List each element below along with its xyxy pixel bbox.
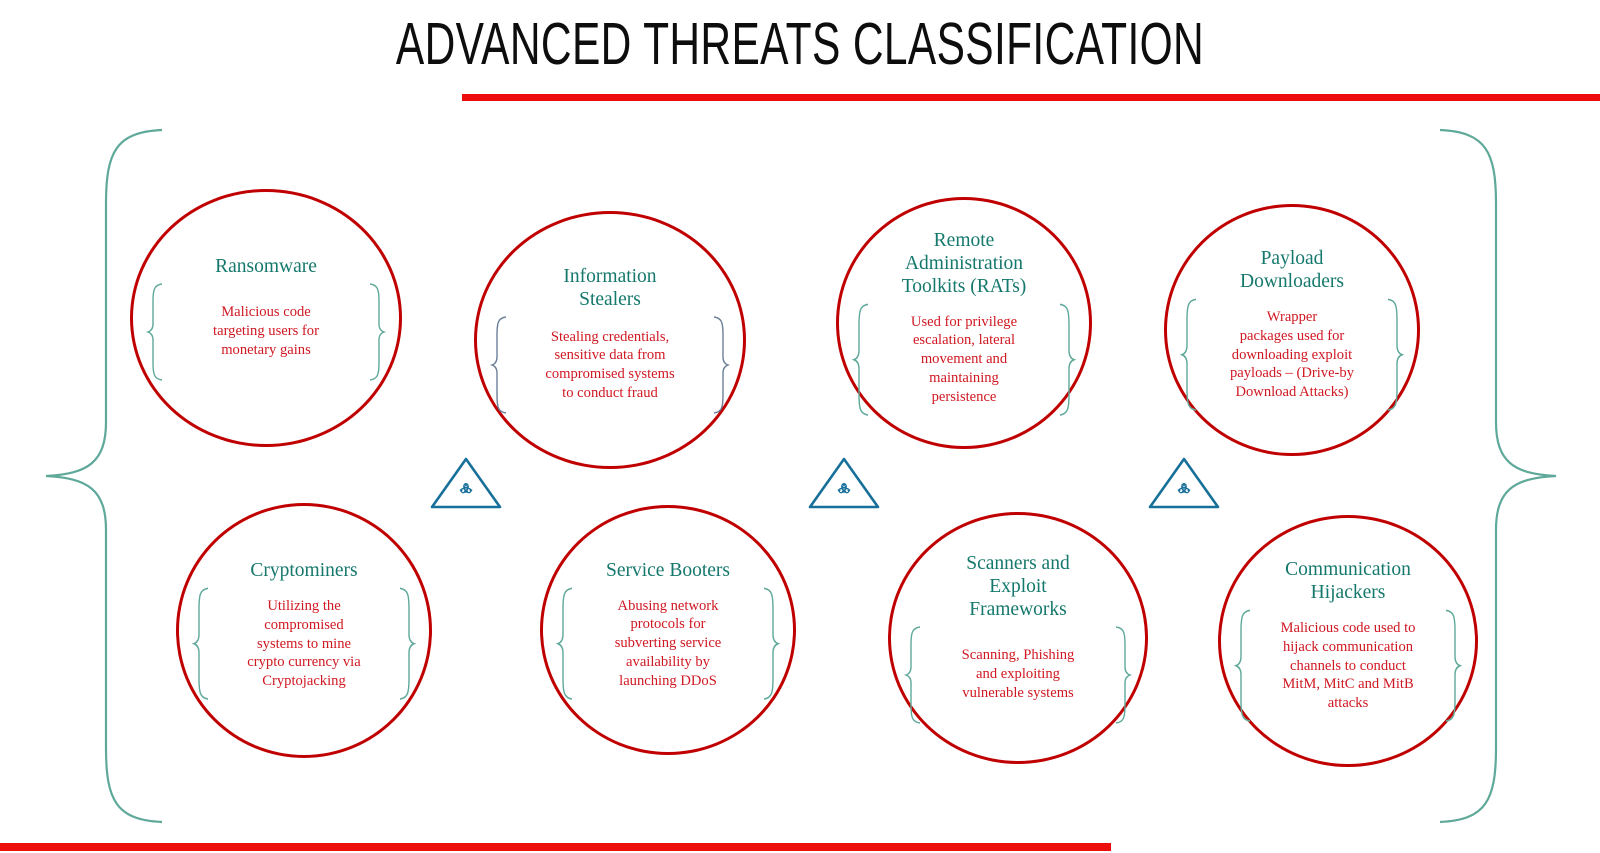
node-body-wrap: Abusing network protocols for subverting… <box>557 586 779 701</box>
biohazard-icon-1 <box>429 456 503 510</box>
mini-brace-left <box>853 302 870 417</box>
node-title: Payload Downloaders <box>1240 247 1344 293</box>
node-content: Scanners and Exploit Frameworks Scanning… <box>891 515 1145 761</box>
mini-brace-left <box>491 315 508 415</box>
threat-node-information-stealers[interactable]: Information Stealers Stealing credential… <box>474 211 746 469</box>
threat-node-payload-downloaders[interactable]: Payload Downloaders Wrapper packages use… <box>1164 204 1420 456</box>
node-body: Wrapper packages used for downloading ex… <box>1198 297 1386 412</box>
mini-brace-right <box>1444 608 1461 723</box>
node-title: Cryptominers <box>250 559 357 582</box>
node-body: Malicious code used to hijack communicat… <box>1252 608 1444 723</box>
mini-brace-right <box>712 315 729 415</box>
threat-node-ransomware[interactable]: Ransomware Malicious code targeting user… <box>130 189 402 447</box>
node-body: Scanning, Phishing and exploiting vulner… <box>922 635 1114 713</box>
mini-brace-right <box>762 586 779 701</box>
node-content: Payload Downloaders Wrapper packages use… <box>1167 207 1417 453</box>
mini-brace-left <box>1181 297 1198 412</box>
page-title: ADVANCED THREATS CLASSIFICATION <box>224 14 1376 76</box>
mini-brace-left <box>1235 608 1252 723</box>
node-content: Cryptominers Utilizing the compromised s… <box>179 506 429 755</box>
node-body-wrap: Utilizing the compromised systems to min… <box>193 586 415 701</box>
biohazard-icon-2 <box>807 456 881 510</box>
node-title: Communication Hijackers <box>1285 558 1411 604</box>
node-body-wrap: Wrapper packages used for downloading ex… <box>1181 297 1403 412</box>
bottom-accent-rule <box>0 843 1111 851</box>
mini-brace-right <box>398 586 415 701</box>
threat-node-service-booters[interactable]: Service Booters Abusing network protocol… <box>540 505 796 755</box>
node-body-wrap: Stealing credentials, sensitive data fro… <box>491 315 729 415</box>
slide-canvas: ADVANCED THREATS CLASSIFICATION Ransomwa… <box>0 0 1600 853</box>
mini-brace-right <box>1058 302 1075 417</box>
node-body: Stealing credentials, sensitive data fro… <box>508 317 712 414</box>
node-content: Service Booters Abusing network protocol… <box>543 508 793 752</box>
mini-brace-right <box>1386 297 1403 412</box>
node-body-wrap: Scanning, Phishing and exploiting vulner… <box>905 625 1131 725</box>
node-body-wrap: Used for privilege escalation, lateral m… <box>853 302 1075 417</box>
mini-brace-left <box>147 282 164 382</box>
mini-brace-right <box>368 282 385 382</box>
node-body: Malicious code targeting users for monet… <box>164 292 368 370</box>
node-content: Ransomware Malicious code targeting user… <box>133 192 399 444</box>
biohazard-icon-3 <box>1147 456 1221 510</box>
title-underline-rule <box>462 94 1600 101</box>
node-body: Used for privilege escalation, lateral m… <box>870 302 1058 417</box>
node-title: Service Booters <box>606 559 730 582</box>
mini-brace-left <box>193 586 210 701</box>
threat-node-cryptominers[interactable]: Cryptominers Utilizing the compromised s… <box>176 503 432 758</box>
threat-node-remote-administration-toolkits[interactable]: Remote Administration Toolkits (RATs) Us… <box>836 197 1092 449</box>
mini-brace-left <box>557 586 574 701</box>
threat-node-scanners-and-exploit-frameworks[interactable]: Scanners and Exploit Frameworks Scanning… <box>888 512 1148 764</box>
threat-node-communication-hijackers[interactable]: Communication Hijackers Malicious code u… <box>1218 515 1478 767</box>
mini-brace-left <box>905 625 922 725</box>
node-body: Utilizing the compromised systems to min… <box>210 586 398 701</box>
node-body: Abusing network protocols for subverting… <box>574 586 762 701</box>
node-title: Remote Administration Toolkits (RATs) <box>902 229 1027 298</box>
mini-brace-right <box>1114 625 1131 725</box>
node-body-wrap: Malicious code used to hijack communicat… <box>1235 608 1461 723</box>
node-content: Communication Hijackers Malicious code u… <box>1221 518 1475 764</box>
node-title: Information Stealers <box>563 265 656 311</box>
node-content: Remote Administration Toolkits (RATs) Us… <box>839 200 1089 446</box>
node-content: Information Stealers Stealing credential… <box>477 214 743 466</box>
node-title: Scanners and Exploit Frameworks <box>966 552 1069 621</box>
node-title: Ransomware <box>215 255 317 278</box>
node-body-wrap: Malicious code targeting users for monet… <box>147 282 385 382</box>
